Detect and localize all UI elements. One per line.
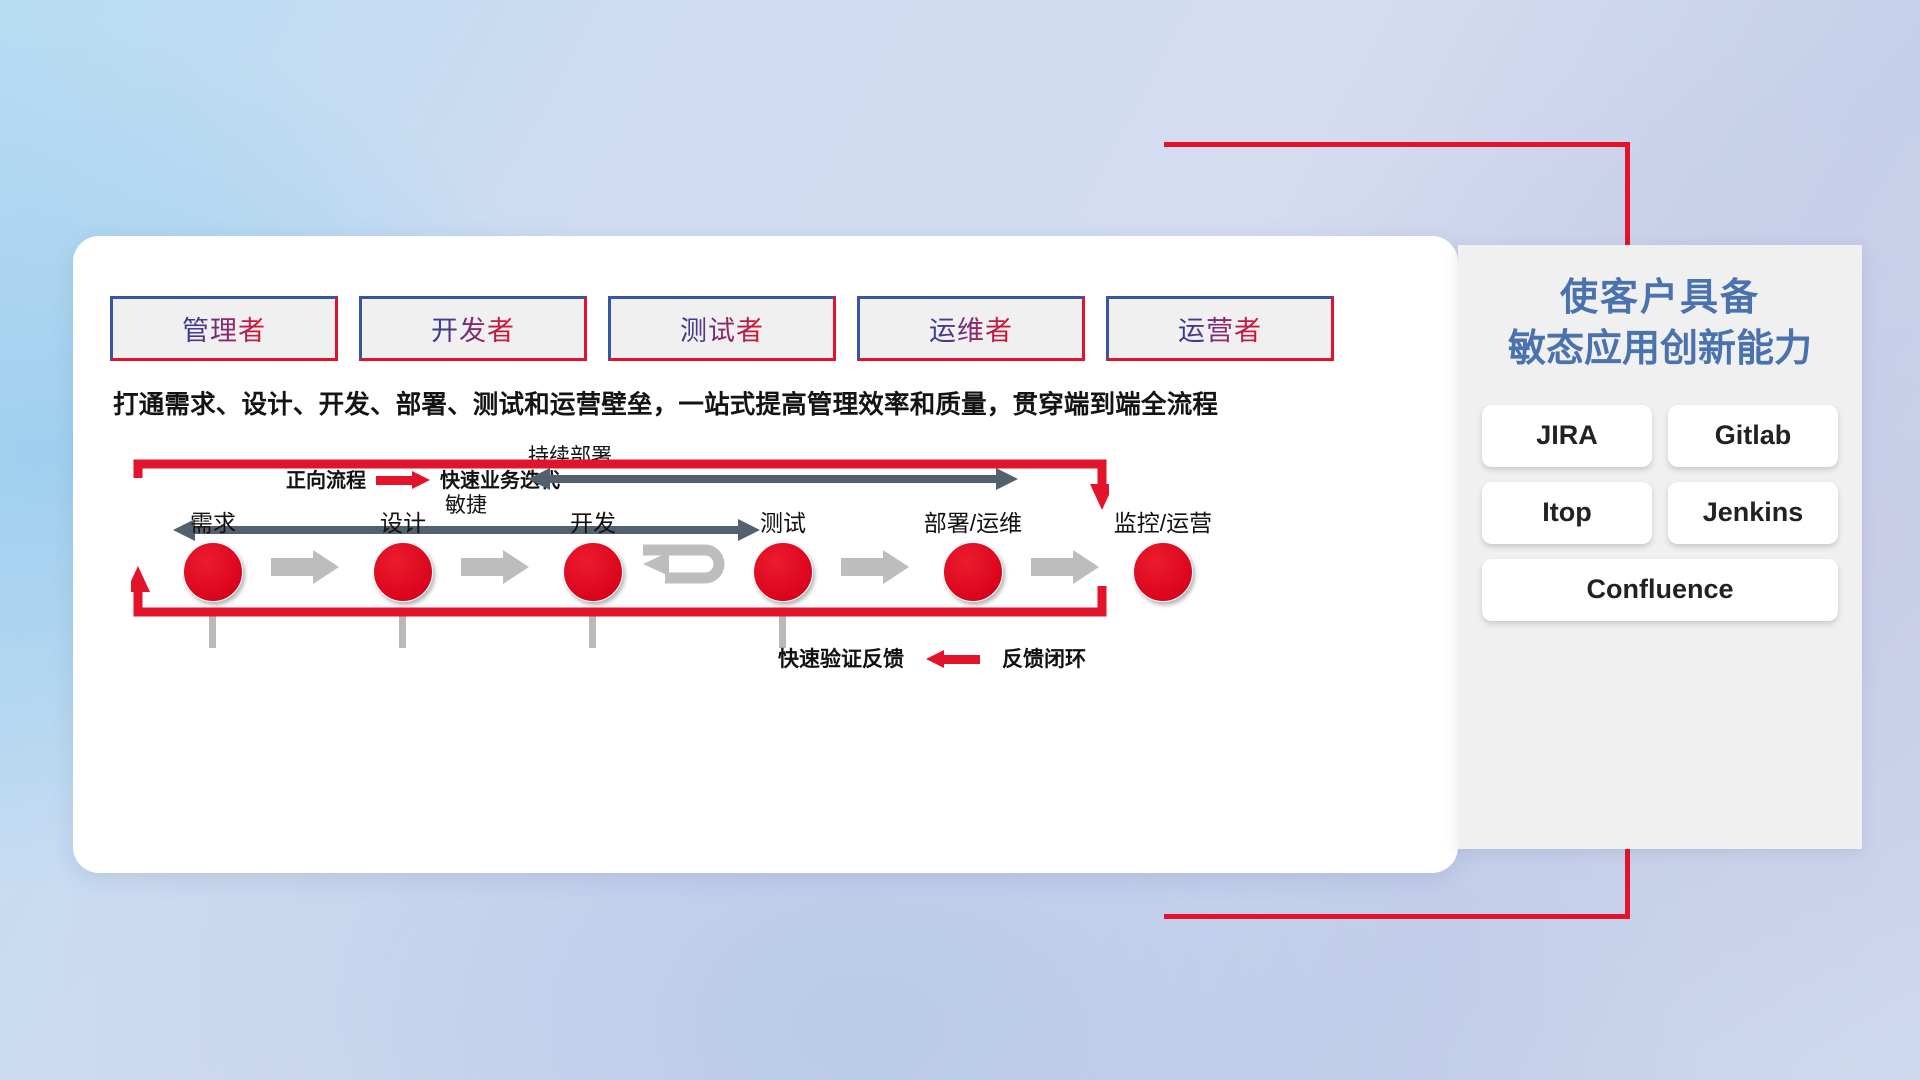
stage-dot	[1133, 542, 1193, 602]
roles-row: 管理者 开发者 测试者 运维者 运营者	[110, 296, 1334, 361]
arrow-left-red-icon	[926, 650, 980, 666]
role-box-tester[interactable]: 测试者	[608, 296, 836, 361]
right-panel-title-line2: 敏态应用创新能力	[1458, 324, 1862, 375]
tools-grid: JIRA Gitlab Itop Jenkins Confluence	[1458, 375, 1862, 621]
feedback-left-label: 快速验证反馈	[778, 643, 904, 673]
stage-monitor-operations[interactable]: 监控/运营	[1103, 504, 1223, 602]
role-box-operations[interactable]: 运营者	[1106, 296, 1334, 361]
tagline-text: 打通需求、设计、开发、部署、测试和运营壁垒，一站式提高管理效率和质量，贯穿端到端…	[113, 384, 1413, 421]
right-panel-title: 使客户具备 敏态应用创新能力	[1458, 245, 1862, 375]
role-label: 运营者	[1178, 309, 1262, 348]
role-box-ops[interactable]: 运维者	[857, 296, 1085, 361]
tool-chip-confluence[interactable]: Confluence	[1482, 559, 1838, 621]
role-box-manager[interactable]: 管理者	[110, 296, 338, 361]
role-label: 管理者	[182, 309, 266, 348]
feedback-right-label: 反馈闭环	[1002, 643, 1086, 673]
role-label: 开发者	[431, 309, 515, 348]
tool-chip-itop[interactable]: Itop	[1482, 482, 1652, 544]
tool-chip-jira[interactable]: JIRA	[1482, 405, 1652, 467]
role-label: 测试者	[680, 309, 764, 348]
feedback-legend: 快速验证反馈 反馈闭环	[778, 643, 1086, 673]
tool-chip-jenkins[interactable]: Jenkins	[1668, 482, 1838, 544]
stage-label: 监控/运营	[1103, 504, 1223, 538]
right-panel: 使客户具备 敏态应用创新能力 JIRA Gitlab Itop Jenkins …	[1458, 245, 1862, 849]
role-label: 运维者	[929, 309, 1013, 348]
tool-chip-gitlab[interactable]: Gitlab	[1668, 405, 1838, 467]
feedback-loop-path	[131, 458, 1109, 618]
role-box-developer[interactable]: 开发者	[359, 296, 587, 361]
main-card: 管理者 开发者 测试者 运维者 运营者 打通需求、设计、开发、部署、测试和运营壁…	[73, 236, 1458, 873]
right-panel-title-line1: 使客户具备	[1458, 273, 1862, 324]
